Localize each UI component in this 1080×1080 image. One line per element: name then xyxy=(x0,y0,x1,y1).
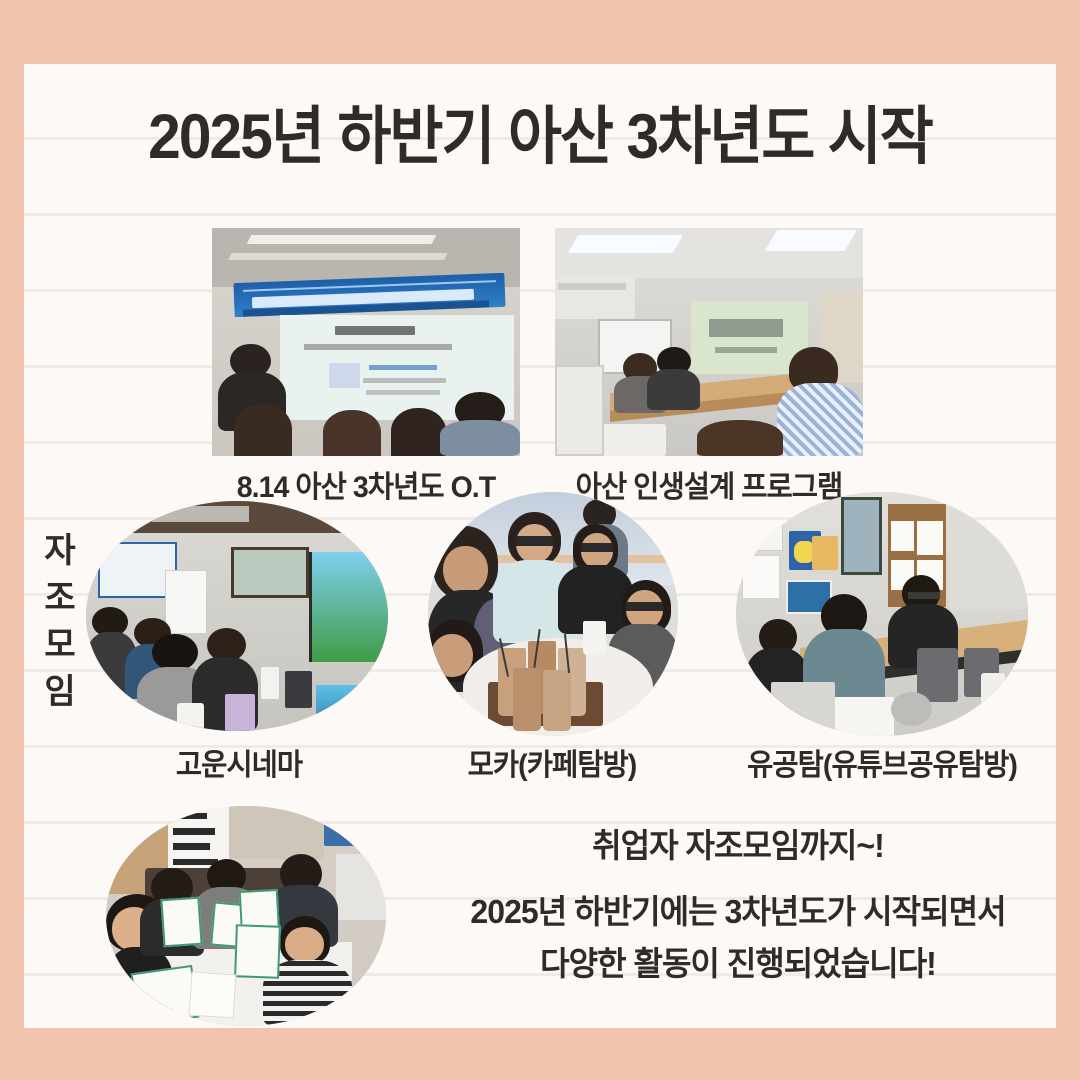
closing-line-1: 취업자 자조모임까지~! xyxy=(430,820,1047,872)
side-label-self-help-group: 자 조 모 임 xyxy=(32,528,88,716)
caption-photo-cinema: 고운시네마 xyxy=(111,740,368,784)
photo-mocha xyxy=(428,492,678,736)
side-label-char-3: 모 xyxy=(32,622,88,669)
poster-inner-page: 2025년 하반기 아산 3차년도 시작 xyxy=(24,64,1056,1028)
photo-cinema xyxy=(86,501,388,731)
poster-canvas: 2025년 하반기 아산 3차년도 시작 xyxy=(0,0,1080,1080)
photo-certificates xyxy=(106,806,386,1026)
closing-text-block: 취업자 자조모임까지~! 2025년 하반기에는 3차년도가 시작되면서 다양한… xyxy=(420,820,1056,990)
side-label-char-1: 자 xyxy=(32,528,88,575)
photo-life xyxy=(555,228,863,456)
side-label-char-4: 임 xyxy=(32,669,88,716)
caption-photo-mocha: 모카(카페탐방) xyxy=(413,740,690,784)
photo-ot xyxy=(212,228,520,456)
photo-yugong xyxy=(736,492,1028,736)
side-label-char-2: 조 xyxy=(32,575,88,622)
page-title: 2025년 하반기 아산 3차년도 시작 xyxy=(60,86,1020,177)
caption-photo-yugong: 유공탐(유튜브공유탐방) xyxy=(713,740,1051,784)
closing-line-3: 다양한 활동이 진행되었습니다! xyxy=(430,938,1047,990)
closing-line-2: 2025년 하반기에는 3차년도가 시작되면서 xyxy=(430,886,1047,938)
